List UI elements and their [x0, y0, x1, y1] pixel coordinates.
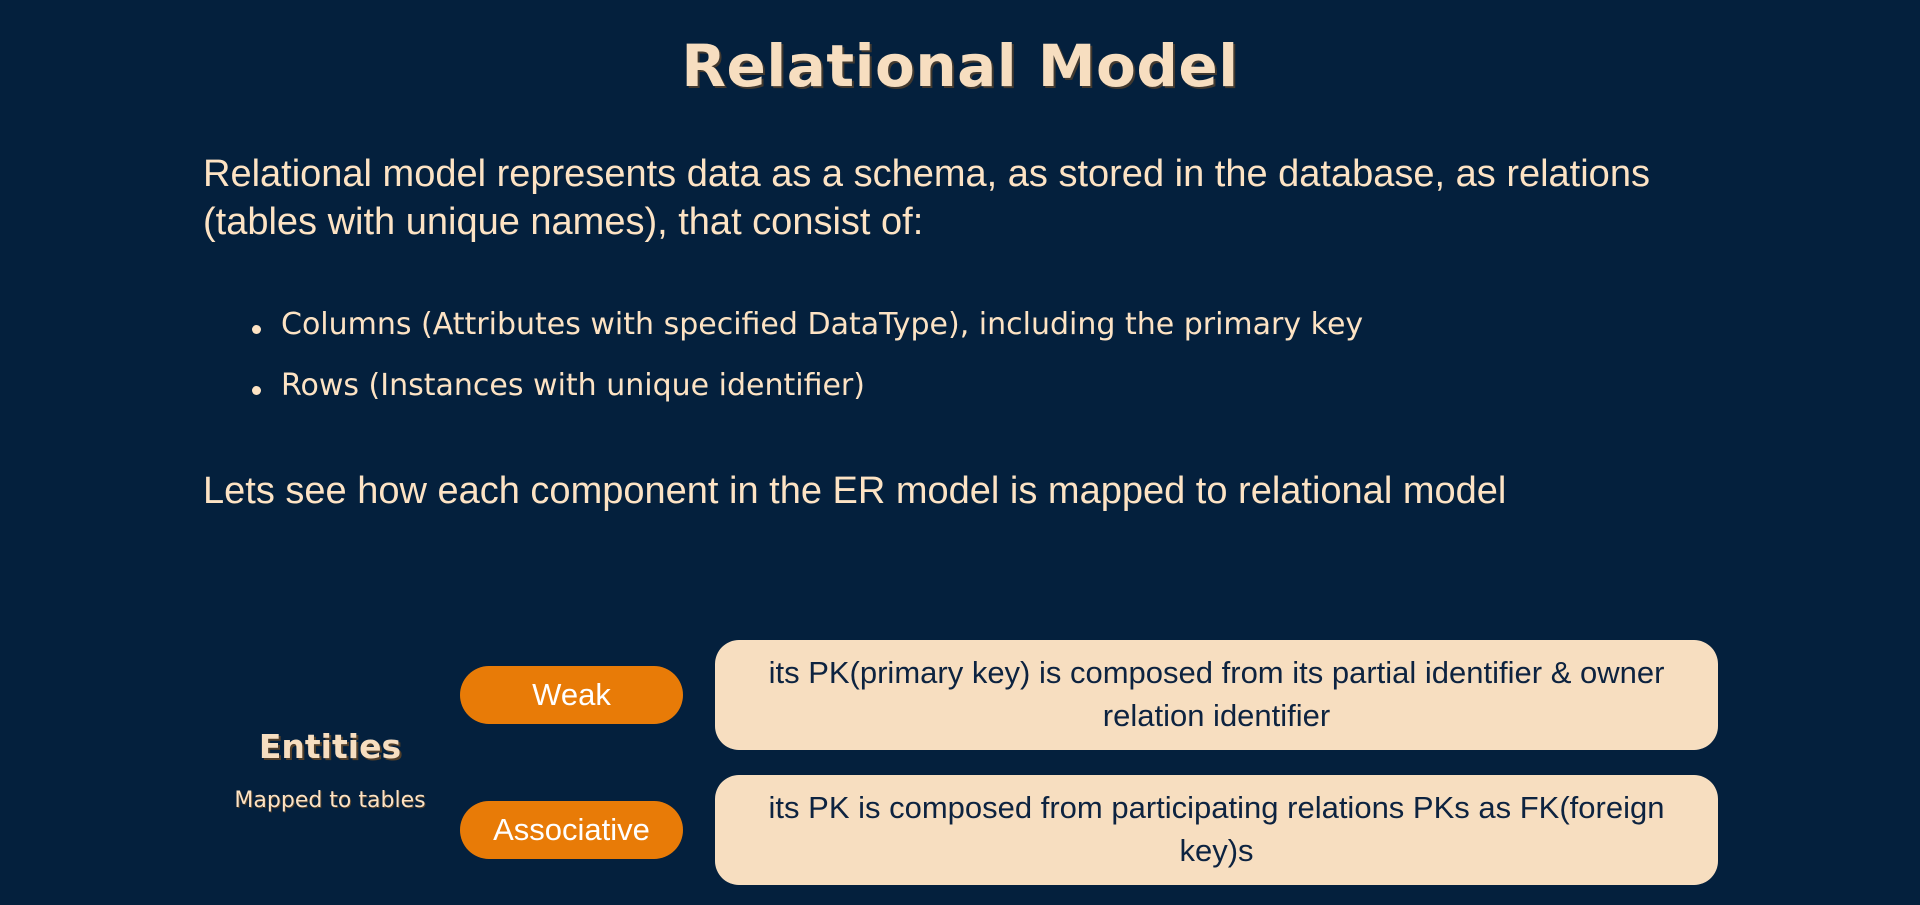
- list-item-label: Rows (Instances with unique identifier): [281, 368, 865, 403]
- intro-paragraph: Relational model represents data as a sc…: [203, 150, 1743, 247]
- bullet-dot-icon: [252, 386, 261, 395]
- description-associative: its PK is composed from participating re…: [715, 775, 1718, 885]
- group-label-entities: Entities: [200, 727, 460, 766]
- group-sublabel-entities: Mapped to tables: [200, 788, 460, 813]
- mapping-row-weak: Weak its PK(primary key) is composed fro…: [460, 640, 1720, 750]
- bullet-list: Columns (Attributes with specified DataT…: [248, 310, 1728, 432]
- list-item: Rows (Instances with unique identifier): [248, 371, 1728, 401]
- entities-mapping-diagram: Entities Mapped to tables Weak its PK(pr…: [0, 612, 1920, 902]
- transition-text: Lets see how each component in the ER mo…: [203, 468, 1763, 516]
- bullet-dot-icon: [252, 325, 261, 334]
- page-title: Relational Model: [0, 36, 1920, 97]
- pill-weak[interactable]: Weak: [460, 666, 683, 724]
- list-item-label: Columns (Attributes with specified DataT…: [281, 307, 1363, 342]
- description-weak: its PK(primary key) is composed from its…: [715, 640, 1718, 750]
- pill-associative[interactable]: Associative: [460, 801, 683, 859]
- mapping-row-associative: Associative its PK is composed from part…: [460, 775, 1720, 885]
- slide-root: Relational Model Relational model repres…: [0, 0, 1920, 905]
- list-item: Columns (Attributes with specified DataT…: [248, 310, 1728, 340]
